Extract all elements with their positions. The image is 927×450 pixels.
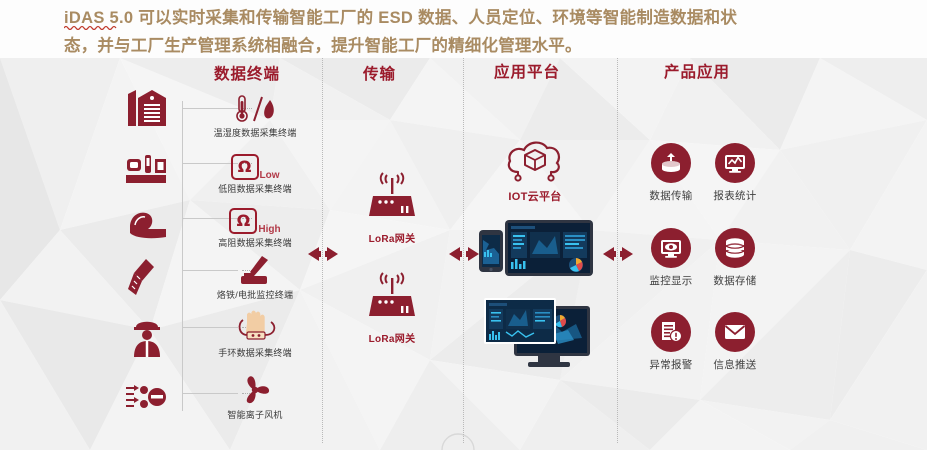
envelope-icon [715, 312, 755, 352]
ohm-symbol: Ω [231, 154, 259, 180]
ohm-high-icon: Ω High [196, 200, 314, 234]
column-header-product: 产品应用 [664, 60, 730, 82]
factory-icon [124, 88, 168, 130]
soldering-iron-icon [196, 252, 314, 286]
column-header-terminal: 数据终端 [214, 62, 280, 84]
lora-gateway-icon [363, 272, 421, 322]
glove-icon [124, 205, 168, 247]
brush-icon [124, 257, 168, 299]
thermometer-humidity-icon [196, 90, 314, 124]
ionizer-nodes-icon [124, 378, 168, 420]
feature-label: 报表统计 [697, 188, 773, 203]
cloud-platform-label: IOT云平台 [487, 188, 583, 204]
monitor-eye-icon [651, 228, 691, 268]
terminal-item[interactable]: 烙铁/电批监控终端 [196, 252, 314, 301]
terminal-label: 智能离子风机 [196, 408, 314, 421]
gateway-label: LoRa网关 [347, 330, 437, 345]
workbench-icon [124, 145, 168, 187]
bidirectional-arrow-1-icon [300, 245, 346, 263]
tree-trunk-line [182, 101, 183, 411]
bidirectional-arrow-3-icon [595, 245, 641, 263]
terminal-item[interactable]: Ω Low 低阻数据采集终端 [196, 146, 314, 195]
cloud-cube-icon [504, 134, 566, 182]
feature-item[interactable]: 信息推送 [697, 312, 773, 372]
report-chart-icon [715, 143, 755, 183]
data-transfer-icon [651, 143, 691, 183]
ionizer-fan-icon [196, 372, 314, 406]
terminal-label: 高阻数据采集终端 [196, 236, 314, 249]
page-title: iDAS 5.0 可以实时采集和传输智能工厂的 ESD 数据、人员定位、环境等智… [0, 0, 927, 58]
gateway-item[interactable]: LoRa网关 [347, 172, 437, 245]
ohm-sub-label: Low [260, 170, 280, 181]
page-indicator-arc [428, 430, 488, 450]
infographic-canvas: iDAS 5.0 可以实时采集和传输智能工厂的 ESD 数据、人员定位、环境等智… [0, 0, 927, 450]
wristband-icon [196, 310, 314, 344]
feature-label: 信息推送 [697, 357, 773, 372]
feature-item[interactable]: 报表统计 [697, 143, 773, 203]
tablet-phone-dashboard[interactable] [477, 218, 595, 280]
database-icon [715, 228, 755, 268]
column-header-transmission: 传输 [363, 62, 396, 84]
column-header-platform: 应用平台 [494, 60, 560, 82]
terminal-item[interactable]: Ω High 高阻数据采集终端 [196, 200, 314, 249]
monitor-screen-dashboard[interactable] [482, 288, 594, 370]
title-line-2: 态，并与工厂生产管理系统相融合，提升智能工厂的精细化管理水平。 [64, 32, 867, 60]
feature-label: 数据存储 [697, 273, 773, 288]
iot-cloud-platform[interactable]: IOT云平台 [487, 134, 583, 204]
alarm-document-icon [651, 312, 691, 352]
worker-icon [126, 315, 170, 357]
terminal-label: 烙铁/电批监控终端 [196, 288, 314, 301]
terminal-item[interactable]: 智能离子风机 [196, 372, 314, 421]
ohm-sub-label: High [258, 224, 280, 235]
ohm-low-icon: Ω Low [196, 146, 314, 180]
terminal-label: 低阻数据采集终端 [196, 182, 314, 195]
gateway-label: LoRa网关 [347, 230, 437, 245]
gateway-item[interactable]: LoRa网关 [347, 272, 437, 345]
ohm-symbol: Ω [229, 208, 257, 234]
bidirectional-arrow-2-icon [441, 245, 487, 263]
terminal-label: 手环数据采集终端 [196, 346, 314, 359]
lora-gateway-icon [363, 172, 421, 222]
feature-item[interactable]: 数据存储 [697, 228, 773, 288]
terminal-item[interactable]: 手环数据采集终端 [196, 310, 314, 359]
terminal-item[interactable]: 温湿度数据采集终端 [196, 90, 314, 139]
terminal-label: 温湿度数据采集终端 [196, 126, 314, 139]
title-line-1: iDAS 5.0 可以实时采集和传输智能工厂的 ESD 数据、人员定位、环境等智… [64, 4, 867, 32]
